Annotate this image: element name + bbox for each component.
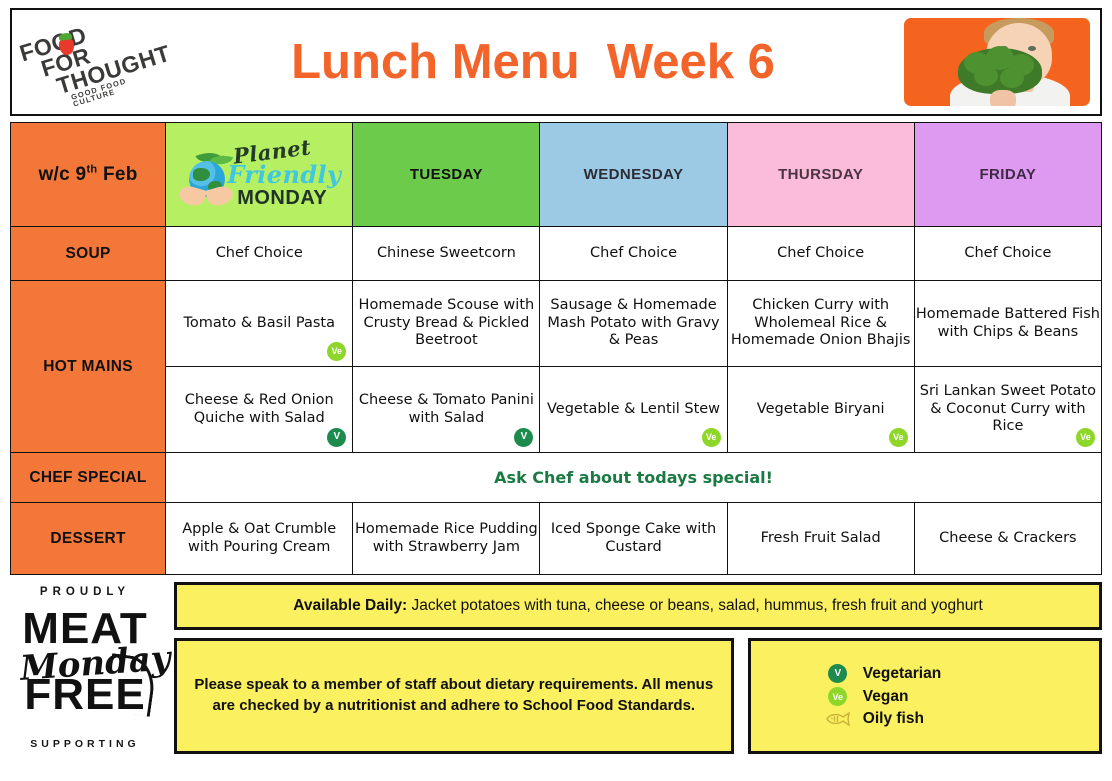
earth-in-hands-icon bbox=[177, 153, 233, 207]
title-container: Lunch Menu Week 6 bbox=[162, 34, 904, 90]
badge-ve-glyph: Ve bbox=[828, 687, 847, 706]
table-row-hot-mains-primary: HOT MAINS Tomato & Basil Pasta Ve Homema… bbox=[11, 281, 1102, 367]
footer-notes: Available Daily: Jacket potatoes with tu… bbox=[174, 582, 1102, 754]
main-primary-friday: Homemade Battered Fish with Chips & Bean… bbox=[914, 281, 1101, 367]
main-primary-thursday: Chicken Curry with Wholemeal Rice & Home… bbox=[727, 281, 914, 367]
table-row-chef-special: CHEF SPECIAL Ask Chef about todays speci… bbox=[11, 453, 1102, 503]
pfm-script-mid: Friendly bbox=[227, 160, 341, 189]
dessert-monday: Apple & Oat Crumble with Pouring Cream bbox=[166, 503, 353, 575]
available-daily-text: Jacket potatoes with tuna, cheese or bea… bbox=[407, 597, 983, 614]
table-header-row: w/c 9th Feb Planet Friendly MONDAY bbox=[11, 123, 1102, 227]
allergen-key: V Vegetarian Ve Vegan bbox=[748, 638, 1102, 754]
soup-tuesday: Chinese Sweetcorn bbox=[353, 227, 540, 281]
dish-text: Vegetable Biryani bbox=[757, 401, 885, 417]
footer-bottom-row: Please speak to a member of staff about … bbox=[174, 638, 1102, 754]
available-daily-banner: Available Daily: Jacket potatoes with tu… bbox=[174, 582, 1102, 630]
key-label-oily-fish: Oily fish bbox=[863, 710, 1025, 728]
table-row-hot-mains-secondary: Cheese & Red Onion Quiche with Salad V C… bbox=[11, 367, 1102, 453]
dessert-wednesday: Iced Sponge Cake with Custard bbox=[540, 503, 727, 575]
key-label-vegetarian: Vegetarian bbox=[863, 665, 1025, 683]
dish-text: Cheese & Red Onion Quiche with Salad bbox=[185, 392, 334, 426]
day-header-thursday: THURSDAY bbox=[727, 123, 914, 227]
day-header-tuesday: TUESDAY bbox=[353, 123, 540, 227]
main-secondary-friday: Sri Lankan Sweet Potato & Coconut Curry … bbox=[914, 367, 1101, 453]
vegetarian-badge: V bbox=[327, 428, 346, 447]
fish-icon bbox=[825, 711, 851, 727]
row-label-chef-special: CHEF SPECIAL bbox=[11, 453, 166, 503]
dish-text: Sri Lankan Sweet Potato & Coconut Curry … bbox=[920, 383, 1096, 434]
planet-friendly-monday-logo: Planet Friendly MONDAY bbox=[166, 123, 352, 226]
row-label-hot-mains: HOT MAINS bbox=[11, 281, 166, 453]
vegetarian-badge-icon: V bbox=[825, 664, 851, 683]
soup-thursday: Chef Choice bbox=[727, 227, 914, 281]
row-label-soup: SOUP bbox=[11, 227, 166, 281]
page-footer: PROUDLY MEAT Monday FREE SUPPORTING Avai… bbox=[10, 582, 1102, 754]
dessert-friday: Cheese & Crackers bbox=[914, 503, 1101, 575]
main-secondary-tuesday: Cheese & Tomato Panini with Salad V bbox=[353, 367, 540, 453]
dish-text: Vegetable & Lentil Stew bbox=[547, 401, 720, 417]
key-label-vegan: Vegan bbox=[863, 688, 1025, 706]
soup-monday: Chef Choice bbox=[166, 227, 353, 281]
table-row-dessert: DESSERT Apple & Oat Crumble with Pouring… bbox=[11, 503, 1102, 575]
vegetarian-badge: V bbox=[514, 428, 533, 447]
key-item-oily-fish: Oily fish bbox=[825, 710, 1025, 728]
dish-text: Tomato & Basil Pasta bbox=[183, 315, 335, 331]
mfm-arc-bottom: SUPPORTING bbox=[10, 738, 160, 750]
boy-with-broccoli-photo bbox=[904, 18, 1090, 106]
row-label-dessert: DESSERT bbox=[11, 503, 166, 575]
badge-v-glyph: V bbox=[828, 664, 847, 683]
soup-wednesday: Chef Choice bbox=[540, 227, 727, 281]
key-item-vegetarian: V Vegetarian bbox=[825, 664, 1025, 683]
main-secondary-thursday: Vegetable Biryani Ve bbox=[727, 367, 914, 453]
dessert-tuesday: Homemade Rice Pudding with Strawberry Ja… bbox=[353, 503, 540, 575]
mfm-arc-top: PROUDLY bbox=[10, 586, 160, 598]
page-title: Lunch Menu Week 6 bbox=[291, 34, 775, 90]
available-daily-label: Available Daily: bbox=[293, 597, 407, 614]
main-primary-monday: Tomato & Basil Pasta Ve bbox=[166, 281, 353, 367]
main-secondary-wednesday: Vegetable & Lentil Stew Ve bbox=[540, 367, 727, 453]
vegan-badge-icon: Ve bbox=[825, 687, 851, 706]
dish-text: Cheese & Tomato Panini with Salad bbox=[359, 392, 534, 426]
broccoli-icon bbox=[958, 48, 1042, 94]
chef-special-text: Ask Chef about todays special! bbox=[166, 453, 1102, 503]
day-header-monday: Planet Friendly MONDAY bbox=[166, 123, 353, 227]
pfm-bold-bottom: MONDAY bbox=[237, 187, 327, 210]
week-commencing-cell: w/c 9th Feb bbox=[11, 123, 166, 227]
day-header-friday: FRIDAY bbox=[914, 123, 1101, 227]
week-label-suffix: Feb bbox=[97, 164, 137, 185]
vegan-badge: Ve bbox=[1076, 428, 1095, 447]
table-row-soup: SOUP Chef Choice Chinese Sweetcorn Chef … bbox=[11, 227, 1102, 281]
menu-table: w/c 9th Feb Planet Friendly MONDAY bbox=[10, 122, 1102, 575]
vegan-badge: Ve bbox=[327, 342, 346, 361]
vegan-badge: Ve bbox=[702, 428, 721, 447]
day-header-wednesday: WEDNESDAY bbox=[540, 123, 727, 227]
vegan-badge: Ve bbox=[889, 428, 908, 447]
food-for-thought-logo: FOOD FOR THOUGHT GOOD FOOD CULTURE bbox=[12, 10, 162, 114]
meat-free-monday-logo: PROUDLY MEAT Monday FREE SUPPORTING bbox=[10, 582, 165, 754]
soup-friday: Chef Choice bbox=[914, 227, 1101, 281]
page-header: FOOD FOR THOUGHT GOOD FOOD CULTURE Lunch… bbox=[10, 8, 1102, 116]
main-secondary-monday: Cheese & Red Onion Quiche with Salad V bbox=[166, 367, 353, 453]
main-primary-tuesday: Homemade Scouse with Crusty Bread & Pick… bbox=[353, 281, 540, 367]
dessert-thursday: Fresh Fruit Salad bbox=[727, 503, 914, 575]
key-item-vegan: Ve Vegan bbox=[825, 687, 1025, 706]
week-label: w/c 9 bbox=[38, 164, 86, 185]
dietary-notice: Please speak to a member of staff about … bbox=[174, 638, 734, 754]
lunch-menu-page: FOOD FOR THOUGHT GOOD FOOD CULTURE Lunch… bbox=[0, 0, 1112, 781]
main-primary-wednesday: Sausage & Homemade Mash Potato with Grav… bbox=[540, 281, 727, 367]
week-label-sup: th bbox=[86, 163, 97, 175]
